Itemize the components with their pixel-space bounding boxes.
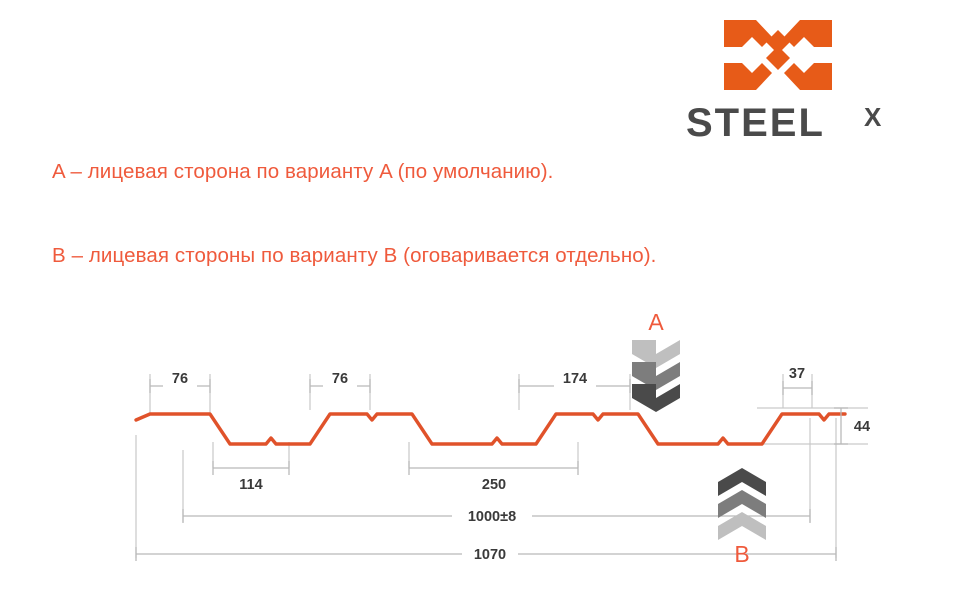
steelx-x-logo-icon: [722, 16, 834, 94]
dimension-label-250: 250: [482, 477, 506, 493]
caption-variant-b: B – лицевая стороны по варианту B (огова…: [52, 244, 656, 268]
profile-technical-drawing: 76 76 174 37 114 250: [0, 290, 970, 590]
dimension-rib-pitch: 250: [409, 461, 578, 493]
brand-wordmark: STEEL X: [686, 100, 918, 144]
dimension-label-76-left: 76: [172, 371, 188, 387]
marker-a-indicator: A: [632, 309, 680, 412]
dimension-total-width: 1070: [136, 543, 836, 563]
brand-logo: STEEL X: [686, 16, 918, 146]
dimension-label-114: 114: [239, 477, 262, 493]
caption-variant-a: A – лицевая сторона по варианту A (по ум…: [52, 160, 553, 184]
dimension-label-1070: 1070: [474, 547, 506, 563]
dimension-label-37: 37: [789, 366, 805, 382]
marker-b-label: B: [734, 541, 749, 567]
dimension-label-76-mid: 76: [332, 371, 348, 387]
dimension-crest-width-left: 76: [150, 369, 210, 393]
dimension-label-44: 44: [854, 419, 870, 435]
wordmark-steel-text: STEEL: [686, 101, 825, 144]
dimension-crest-width-mid: 76: [310, 369, 370, 393]
marker-a-label: A: [648, 309, 664, 335]
dimension-pitch-spacing: 174: [519, 369, 630, 393]
sheet-profile-line: [136, 414, 845, 444]
dimension-valley-width: 114: [213, 461, 289, 493]
dimension-effective-width: 1000±8: [183, 505, 810, 525]
dimension-label-174: 174: [563, 371, 587, 387]
marker-a-chevron-3: [632, 384, 680, 412]
dimension-edge-width: 37: [783, 366, 812, 395]
marker-b-indicator: B: [718, 468, 766, 567]
dimension-label-1000: 1000±8: [468, 509, 516, 525]
wordmark-x-superscript: X: [864, 102, 882, 132]
